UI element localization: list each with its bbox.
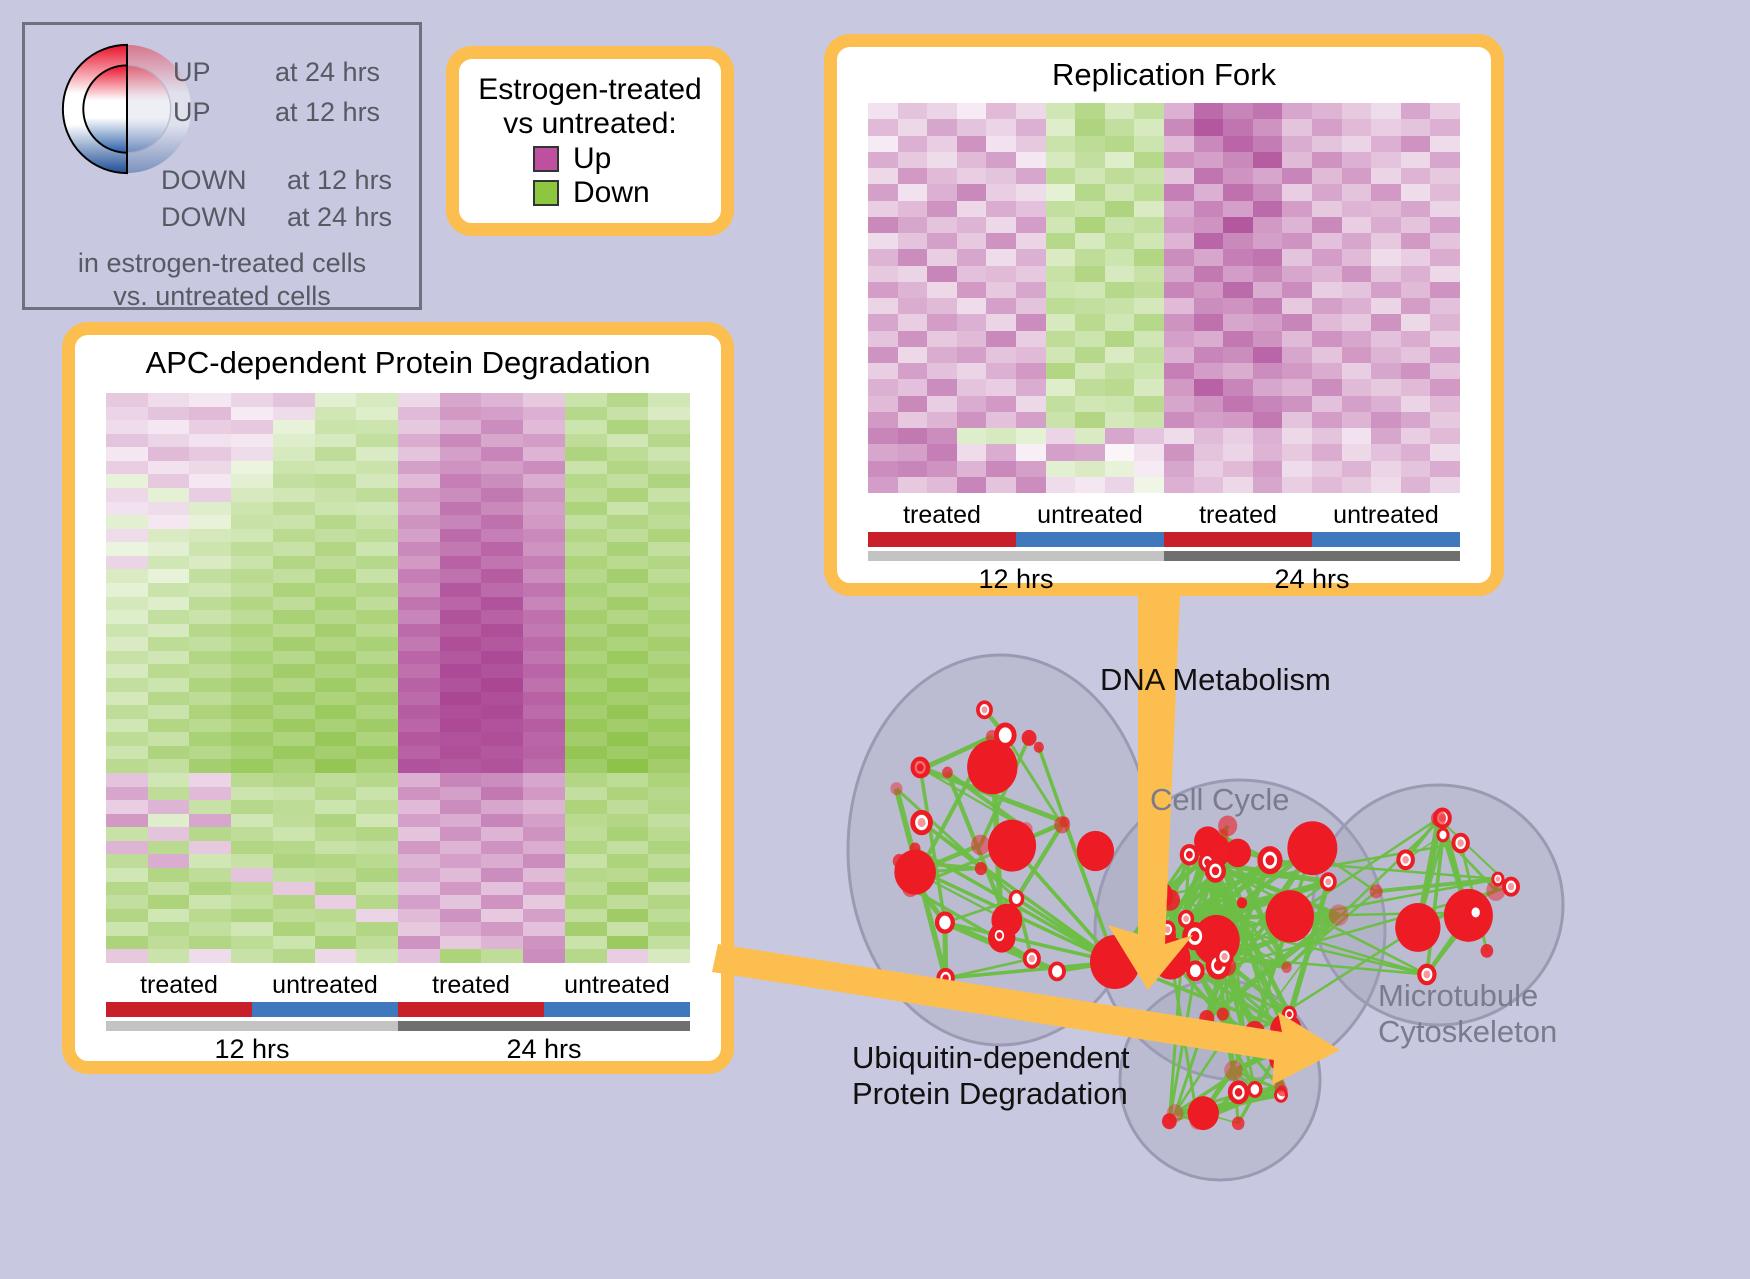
- heatmap-cell: [898, 168, 928, 184]
- heatmap-cell: [148, 529, 190, 543]
- heatmap-cell: [1105, 461, 1135, 477]
- network-node: [1034, 742, 1044, 753]
- heatmap-cell: [1430, 331, 1460, 347]
- color-key-footer-line2: vs. untreated cells: [25, 280, 419, 313]
- heatmap-cell: [440, 474, 482, 488]
- heatmap-cell: [1075, 428, 1105, 444]
- heatmap-cell: [106, 909, 148, 923]
- heatmap-cell: [927, 152, 957, 168]
- heatmap-cell: [106, 597, 148, 611]
- heatmap-cell: [273, 854, 315, 868]
- heatmap-cell: [356, 447, 398, 461]
- heatmap-cell: [1016, 282, 1046, 298]
- heatmap-cell: [1342, 201, 1372, 217]
- heatmap-cell: [481, 678, 523, 692]
- heatmap-cell: [148, 502, 190, 516]
- heatmap-cell: [927, 249, 957, 265]
- heatmap-cell: [523, 909, 565, 923]
- heatmap-cell: [523, 664, 565, 678]
- heatmap-cell: [1194, 266, 1224, 282]
- heatmap-cell: [440, 434, 482, 448]
- heatmap-cell: [1164, 363, 1194, 379]
- heatmap-cell: [648, 759, 690, 773]
- heatmap-cell: [148, 597, 190, 611]
- heatmap-cell: [565, 759, 607, 773]
- heatmap-cell: [440, 488, 482, 502]
- heatmap-cell: [231, 461, 273, 475]
- heatmap-cell: [1312, 136, 1342, 152]
- heatmap-cell: [1105, 298, 1135, 314]
- heatmap-cell: [868, 396, 898, 412]
- heatmap-cell: [1134, 266, 1164, 282]
- heatmap-cell: [868, 477, 898, 493]
- heatmap-cell: [1075, 249, 1105, 265]
- heatmap-cell: [315, 773, 357, 787]
- heatmap-cell: [1134, 282, 1164, 298]
- heatmap-cell: [315, 922, 357, 936]
- heatmap-cell: [607, 936, 649, 950]
- heatmap-cell: [1134, 314, 1164, 330]
- heatmap-cell: [148, 651, 190, 665]
- heatmap-cell: [273, 461, 315, 475]
- heatmap-cell: [898, 331, 928, 347]
- heatmap-cell: [986, 444, 1016, 460]
- heatmap-cell: [1134, 119, 1164, 135]
- heatmap-cell: [1046, 396, 1076, 412]
- heatmap-cell: [1371, 298, 1401, 314]
- heatmap-cell: [1016, 477, 1046, 493]
- heatmap-cell: [1401, 233, 1431, 249]
- heatmap-cell: [1312, 461, 1342, 477]
- heatmap-cell: [1134, 152, 1164, 168]
- heatmap-cell: [607, 407, 649, 421]
- heatmap-cell: [356, 474, 398, 488]
- heatmap-cell: [1046, 217, 1076, 233]
- heatmap-cell: [440, 868, 482, 882]
- heatmap-cell: [1253, 266, 1283, 282]
- heatmap-cell: [1253, 249, 1283, 265]
- heatmap-cell: [189, 610, 231, 624]
- heatmap-cell: [1401, 314, 1431, 330]
- heatmap-cell: [398, 759, 440, 773]
- heatmap-cell: [315, 624, 357, 638]
- heatmap-cell: [106, 692, 148, 706]
- heatmap-cell: [957, 412, 987, 428]
- heatmap-cell: [1016, 461, 1046, 477]
- heatmap-cell: [565, 610, 607, 624]
- heatmap-cell: [607, 556, 649, 570]
- time-label: 12 hrs: [106, 1034, 398, 1065]
- heatmap-cell: [648, 474, 690, 488]
- heatmap-cell: [106, 420, 148, 434]
- heatmap-cell: [1105, 314, 1135, 330]
- heatmap-cell: [1401, 331, 1431, 347]
- heatmap-cell: [440, 692, 482, 706]
- heatmap-cell: [1075, 184, 1105, 200]
- heatmap-cell: [315, 420, 357, 434]
- heatmap-cell: [1016, 396, 1046, 412]
- heatmap-cell: [1075, 314, 1105, 330]
- heatmap-cell: [565, 814, 607, 828]
- heatmap-cell: [1046, 184, 1076, 200]
- heatmap-cell: [1016, 347, 1046, 363]
- heatmap-cell: [440, 949, 482, 963]
- heatmap-cell: [148, 705, 190, 719]
- heatmap-cell: [1430, 233, 1460, 249]
- heatmap-cell: [398, 434, 440, 448]
- heatmap-cell: [481, 542, 523, 556]
- network-node: [1224, 1060, 1243, 1080]
- heatmap-cell: [315, 882, 357, 896]
- heatmap-cell: [1312, 282, 1342, 298]
- network-node: [1481, 944, 1494, 958]
- heatmap-cell: [1105, 233, 1135, 249]
- heatmap-cell: [565, 922, 607, 936]
- heatmap-cell: [1046, 477, 1076, 493]
- heatmap-cell: [1075, 379, 1105, 395]
- heatmap-cell: [440, 922, 482, 936]
- group-label: treated: [398, 971, 544, 1000]
- heatmap-cell: [315, 474, 357, 488]
- network-node-core: [1212, 867, 1219, 876]
- heatmap-cell: [1282, 396, 1312, 412]
- heatmap-cell: [898, 266, 928, 282]
- heatmap-cell: [398, 854, 440, 868]
- network-node: [893, 854, 906, 869]
- heatmap-cell: [440, 732, 482, 746]
- heatmap-cell: [607, 732, 649, 746]
- heatmap-cell: [356, 909, 398, 923]
- heatmap-cell: [648, 800, 690, 814]
- heatmap-cell: [1223, 477, 1253, 493]
- heatmap-cell: [868, 233, 898, 249]
- heatmap-cell: [1134, 396, 1164, 412]
- heatmap-cell: [607, 393, 649, 407]
- legend-title-line1: Estrogen-treated: [459, 73, 721, 107]
- heatmap-cell: [565, 732, 607, 746]
- heatmap-cell: [565, 569, 607, 583]
- heatmap-cell: [1105, 201, 1135, 217]
- heatmap-cell: [231, 678, 273, 692]
- heatmap-cell: [356, 637, 398, 651]
- heatmap-cell: [1371, 201, 1401, 217]
- heatmap-cell: [398, 814, 440, 828]
- heatmap-cell: [148, 909, 190, 923]
- heatmap-cell: [356, 502, 398, 516]
- heatmap-cell: [273, 882, 315, 896]
- heatmap-cell: [1253, 184, 1283, 200]
- heatmap-cell: [440, 515, 482, 529]
- heatmap-cell: [106, 542, 148, 556]
- heatmap-cell: [1134, 412, 1164, 428]
- heatmap-cell: [1342, 136, 1372, 152]
- legend-item-up: Up: [533, 144, 721, 174]
- heatmap-cell: [440, 461, 482, 475]
- heatmap-cell: [398, 583, 440, 597]
- heatmap-cell: [986, 477, 1016, 493]
- heatmap-cell: [1253, 444, 1283, 460]
- heatmap-cell: [1194, 168, 1224, 184]
- network-node: [1217, 1008, 1229, 1021]
- color-key-footer: in estrogen-treated cells vs. untreated …: [25, 247, 419, 313]
- heatmap-cell: [315, 800, 357, 814]
- heatmap-cell: [1253, 233, 1283, 249]
- heatmap-cell: [356, 732, 398, 746]
- heatmap-cell: [523, 746, 565, 760]
- network-node: [1274, 1080, 1286, 1093]
- heatmap-cell: [1312, 168, 1342, 184]
- heatmap-cell: [1016, 298, 1046, 314]
- heatmap-cell: [868, 282, 898, 298]
- heatmap-cell: [1016, 444, 1046, 460]
- heatmap-cell: [1105, 363, 1135, 379]
- heatmap-cell: [523, 773, 565, 787]
- heatmap-cell: [1194, 477, 1224, 493]
- heatmap-cell: [356, 393, 398, 407]
- heatmap-cell: [273, 800, 315, 814]
- heatmap-cell: [398, 719, 440, 733]
- heatmap-cell: [1105, 379, 1135, 395]
- heatmap-cell: [106, 624, 148, 638]
- heatmap-cell: [565, 773, 607, 787]
- heatmap-cell: [1371, 233, 1401, 249]
- heatmap-cell: [1134, 363, 1164, 379]
- heatmap-cell: [898, 201, 928, 217]
- heatmap-cell: [1134, 217, 1164, 233]
- heatmap-cell: [315, 854, 357, 868]
- heatmap-cell: [648, 488, 690, 502]
- cluster-label-line2: Protein Degradation: [852, 1076, 1130, 1112]
- cluster-label-line1: Ubiquitin-dependent: [852, 1040, 1130, 1076]
- heatmap-cell: [607, 610, 649, 624]
- heatmap-cell: [868, 298, 898, 314]
- heatmap-cell: [481, 814, 523, 828]
- heatmap-cell: [189, 542, 231, 556]
- heatmap-cell: [648, 909, 690, 923]
- heatmap-cell: [189, 434, 231, 448]
- heatmap-cell: [148, 624, 190, 638]
- heatmap-cell: [148, 841, 190, 855]
- heatmap-cell: [1164, 444, 1194, 460]
- heatmap-cell: [106, 759, 148, 773]
- heatmap-cell: [231, 922, 273, 936]
- heatmap-cell: [231, 542, 273, 556]
- heatmap-cell: [986, 266, 1016, 282]
- heatmap-cell: [398, 705, 440, 719]
- heatmap-cell: [1105, 152, 1135, 168]
- heatmap-cell: [1075, 444, 1105, 460]
- heatmap-cell: [1401, 119, 1431, 135]
- heatmap-cell: [273, 922, 315, 936]
- heatmap-cell: [273, 393, 315, 407]
- heatmap-cell: [1371, 444, 1401, 460]
- heatmap-cell: [148, 420, 190, 434]
- heatmap-cell: [356, 664, 398, 678]
- heatmap-cell: [565, 949, 607, 963]
- heatmap-cell: [356, 610, 398, 624]
- heatmap-cell: [315, 393, 357, 407]
- heatmap-cell: [106, 787, 148, 801]
- heatmap-cell: [440, 746, 482, 760]
- heatmap-cell: [1371, 282, 1401, 298]
- heatmap-cell: [607, 447, 649, 461]
- heatmap-cell: [148, 827, 190, 841]
- network-node-core: [1252, 1086, 1257, 1092]
- heatmap-cell: [356, 569, 398, 583]
- heatmap-cell: [648, 895, 690, 909]
- heatmap-cell: [1194, 396, 1224, 412]
- heatmap-cell: [106, 515, 148, 529]
- heatmap-cell: [523, 502, 565, 516]
- heatmap-cell: [1282, 152, 1312, 168]
- heatmap-cell: [1401, 217, 1431, 233]
- heatmap-cell: [231, 800, 273, 814]
- heatmap-cell: [106, 651, 148, 665]
- heatmap-cell: [1430, 103, 1460, 119]
- heatmap-cell: [565, 420, 607, 434]
- heatmap-cell: [1312, 217, 1342, 233]
- heatmap-cell: [356, 556, 398, 570]
- heatmap-cell: [231, 434, 273, 448]
- heatmap-cell: [106, 949, 148, 963]
- heatmap-cell: [273, 651, 315, 665]
- heatmap-cell: [565, 895, 607, 909]
- network-node-core: [1147, 913, 1152, 919]
- heatmap-cell: [106, 583, 148, 597]
- heatmap-cell: [1312, 444, 1342, 460]
- heatmap-cell: [1134, 103, 1164, 119]
- heatmap-cell: [648, 827, 690, 841]
- heatmap-cell: [398, 800, 440, 814]
- heatmap-cell: [315, 515, 357, 529]
- heatmap-cell: [398, 664, 440, 678]
- heatmap-cell: [106, 569, 148, 583]
- heatmap-cell: [1046, 136, 1076, 152]
- heatmap-cell: [1401, 168, 1431, 184]
- heatmap-cell: [481, 868, 523, 882]
- heatmap-cell: [1312, 233, 1342, 249]
- heatmap-cell: [607, 529, 649, 543]
- heatmap-cell: [189, 637, 231, 651]
- heatmap-cell: [1312, 103, 1342, 119]
- heatmap-cell: [1075, 266, 1105, 282]
- heatmap-cell: [648, 868, 690, 882]
- heatmap-cell: [1164, 152, 1194, 168]
- heatmap-cell: [523, 787, 565, 801]
- heatmap-cell: [1075, 136, 1105, 152]
- heatmap-cell: [273, 474, 315, 488]
- heatmap-cell: [523, 705, 565, 719]
- heatmap-cell: [1046, 266, 1076, 282]
- heatmap-cell: [481, 597, 523, 611]
- heatmap-cell: [315, 909, 357, 923]
- heatmap-cell: [957, 282, 987, 298]
- heatmap-cell: [1105, 103, 1135, 119]
- sample-annotation-replication-fork: treated untreated treated untreated 12 h: [868, 501, 1460, 595]
- heatmap-cell: [1194, 331, 1224, 347]
- heatmap-cell: [648, 583, 690, 597]
- heatmap-cell: [273, 827, 315, 841]
- heatmap-cell: [607, 719, 649, 733]
- heatmap-cell: [607, 895, 649, 909]
- network-node: [1090, 935, 1140, 989]
- heatmap-cell: [440, 800, 482, 814]
- heatmap-cell: [231, 393, 273, 407]
- heatmap-cell: [148, 922, 190, 936]
- heatmap-cell: [1371, 331, 1401, 347]
- heatmap-cell: [957, 379, 987, 395]
- heatmap-cell: [523, 678, 565, 692]
- heatmap-cell: [356, 461, 398, 475]
- network-node: [1077, 831, 1114, 871]
- heatmap-cell: [356, 515, 398, 529]
- heatmap-cell: [1134, 168, 1164, 184]
- heatmap-cell: [1312, 314, 1342, 330]
- heatmap-cell: [189, 529, 231, 543]
- heatmap-cell: [1253, 477, 1283, 493]
- key-label-down-12: DOWN: [161, 165, 246, 196]
- heatmap-cell: [1105, 119, 1135, 135]
- heatmap-cell: [1223, 233, 1253, 249]
- heatmap-cell: [148, 393, 190, 407]
- heatmap-cell: [231, 787, 273, 801]
- heatmap-cell: [868, 168, 898, 184]
- heatmap-cell: [1075, 233, 1105, 249]
- heatmap-cell: [523, 556, 565, 570]
- heatmap-cell: [1134, 347, 1164, 363]
- heatmap-cell: [189, 556, 231, 570]
- heatmap-cell: [106, 827, 148, 841]
- network-node: [975, 862, 987, 875]
- heatmap-cell: [1194, 184, 1224, 200]
- heatmap-cell: [1223, 444, 1253, 460]
- heatmap-cell: [927, 217, 957, 233]
- heatmap-cell: [481, 474, 523, 488]
- heatmap-cell: [148, 569, 190, 583]
- heatmap-cell: [1282, 428, 1312, 444]
- heatmap-cell: [231, 949, 273, 963]
- heatmap-cell: [1401, 136, 1431, 152]
- heatmap-cell: [1312, 331, 1342, 347]
- heatmap-cell: [148, 732, 190, 746]
- heatmap-cell: [189, 895, 231, 909]
- heatmap-cell: [1194, 152, 1224, 168]
- heatmap-cell: [1282, 249, 1312, 265]
- heatmap-cell: [1430, 266, 1460, 282]
- heatmap-cell: [231, 719, 273, 733]
- heatmap-cell: [273, 407, 315, 421]
- heatmap-cell: [315, 949, 357, 963]
- heatmap-cell: [607, 474, 649, 488]
- heatmap-cell: [1194, 461, 1224, 477]
- heatmap-cell: [1253, 461, 1283, 477]
- heatmap-cell: [273, 868, 315, 882]
- heatmap-cell: [189, 773, 231, 787]
- heatmap-cell: [1164, 103, 1194, 119]
- heatmap-cell: [1223, 331, 1253, 347]
- heatmap-cell: [356, 529, 398, 543]
- heatmap-cell: [148, 542, 190, 556]
- network-node: [1189, 1112, 1205, 1130]
- heatmap-cell: [1401, 379, 1431, 395]
- heatmap-cell: [106, 556, 148, 570]
- heatmap-cell: [648, 393, 690, 407]
- heatmap-cell: [1342, 347, 1372, 363]
- heatmap-cell: [1342, 266, 1372, 282]
- heatmap-cell: [565, 407, 607, 421]
- heatmap-cell: [1401, 103, 1431, 119]
- heatmap-cell: [648, 515, 690, 529]
